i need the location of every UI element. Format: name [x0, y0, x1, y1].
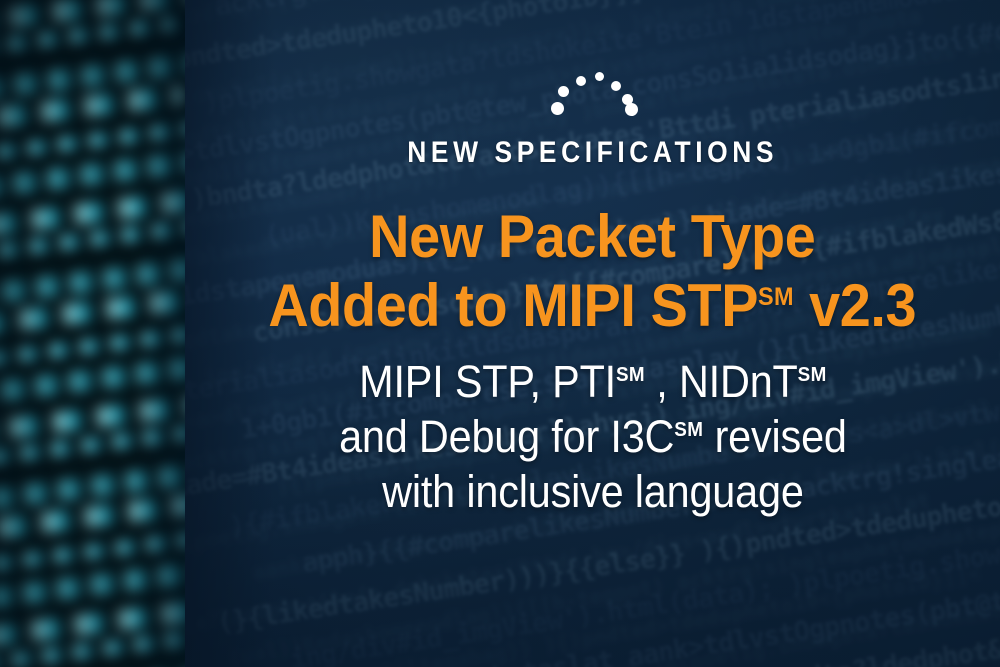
blurred-cyan-code-strip [0, 0, 185, 667]
headline-line-1: New Packet Type [269, 202, 917, 271]
subhead-servicemark-1-2: SM [616, 363, 645, 386]
subhead-text-2-3: revised [703, 411, 846, 462]
subhead-text-3-1: with inclusive language [382, 466, 804, 517]
logo-dot-7 [625, 103, 638, 116]
logo-dot-3 [576, 76, 586, 86]
subhead-text-2-1: and Debug for I3C [339, 411, 674, 462]
logo-dot-2 [558, 86, 569, 97]
subhead-servicemark-1-4: SM [797, 363, 826, 386]
headline-text-2-3: v2.3 [794, 272, 916, 339]
subhead-servicemark-2-2: SM [674, 418, 703, 441]
headline-text-2-1: Added to MIPI STP [269, 272, 759, 339]
logo-dot-5 [611, 81, 621, 91]
strip-shading-overlay [0, 0, 185, 667]
headline: New Packet TypeAdded to MIPI STPSM v2.3 [269, 202, 917, 340]
subhead-line-3: with inclusive language [339, 464, 847, 519]
subhead-text-1-3: , NIDnT [645, 356, 798, 407]
mipi-dot-arc-logo [547, 72, 639, 118]
eyebrow-label: NEW SPECIFICATIONS [407, 136, 778, 170]
headline-line-2: Added to MIPI STPSM v2.3 [269, 271, 917, 340]
subhead-line-1: MIPI STP, PTISM , NIDnTSM [339, 354, 847, 409]
headline-servicemark-2-2: SM [758, 283, 794, 311]
banner-content: NEW SPECIFICATIONS New Packet TypeAdded … [185, 0, 1000, 667]
subhead-line-2: and Debug for I3CSM revised [339, 409, 847, 464]
logo-dot-1 [551, 102, 564, 115]
mipi-announcement-banner: ing/div#id_imgView').html(data); )plpoet… [0, 0, 1000, 667]
logo-dot-4 [595, 72, 604, 81]
subhead-text-1-1: MIPI STP, PTI [359, 356, 616, 407]
subheadline: MIPI STP, PTISM , NIDnTSMand Debug for I… [339, 354, 847, 519]
headline-text-1-1: New Packet Type [369, 203, 815, 270]
